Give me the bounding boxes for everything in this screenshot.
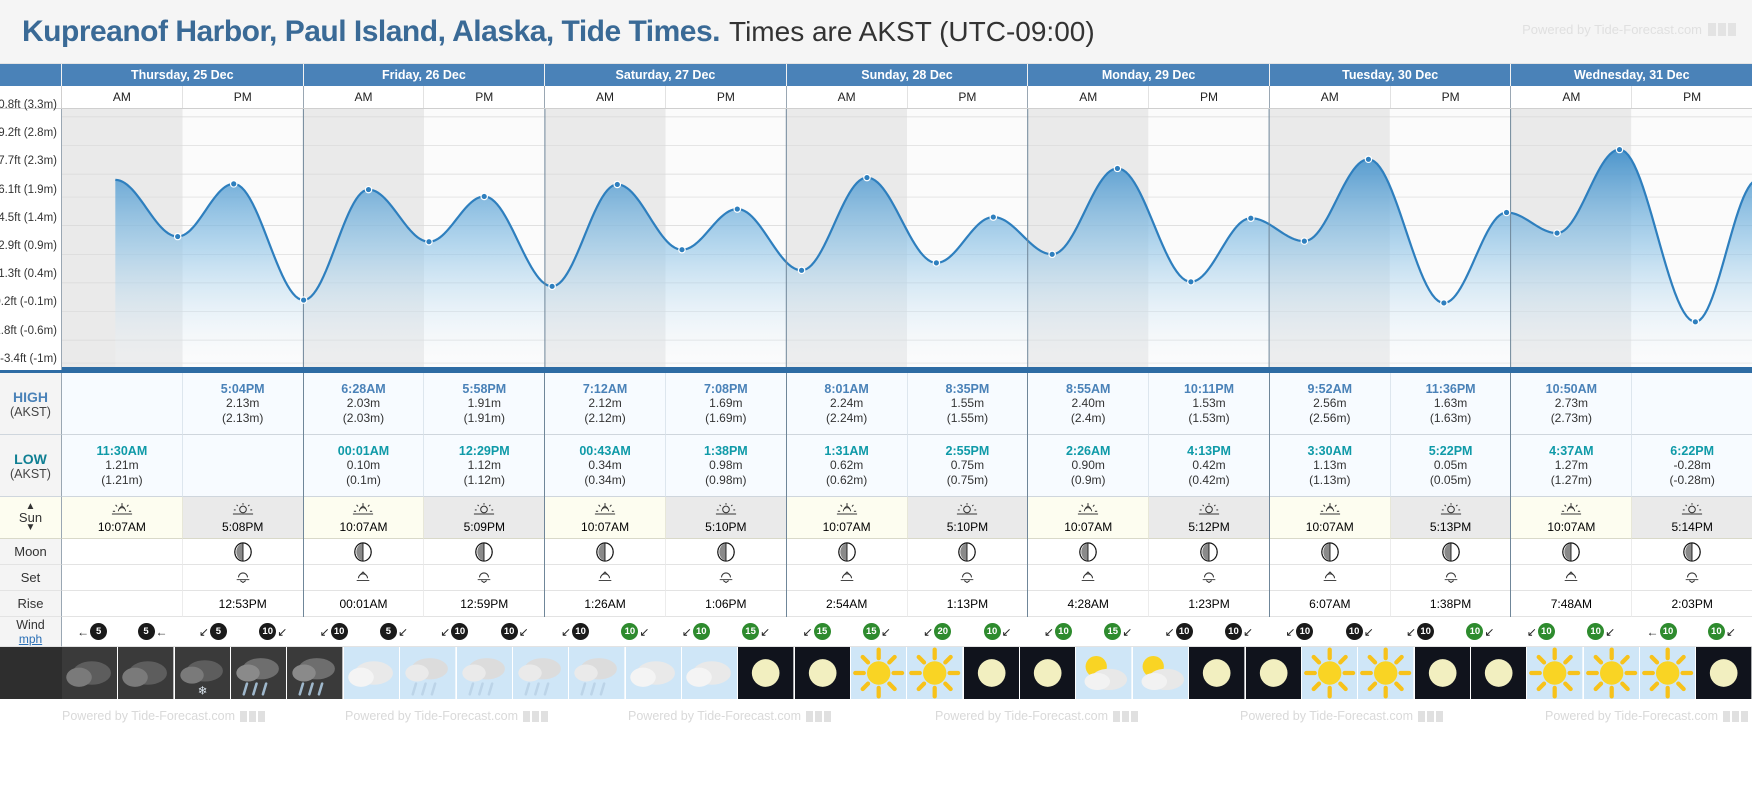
moon-phase-cell-2-pm [666,539,786,565]
weather-row: ❄ [0,647,1752,699]
weather-icon-cell-5[interactable] [344,647,400,699]
low-tide-cell-5-pm[interactable]: 5:22PM0.05m(0.05m) [1391,435,1511,497]
page-title: Kupreanof Harbor, Paul Island, Alaska, T… [22,15,720,49]
low-tide-cell-4-am[interactable]: 2:26AM0.90m(0.9m) [1028,435,1149,497]
moon-time-cell-1-am: 00:01AM [304,591,425,617]
sun-day-3: 10:07AM5:10PM [787,497,1029,539]
wind-cell-1[interactable]: 5← [122,617,182,647]
ampm-pm-2: PM [666,86,786,108]
moon-rise-day-6: 7:48AM2:03PM [1511,591,1752,617]
wind-speed-badge: 10 [1587,623,1604,640]
moon-time-cell-4-am: 4:28AM [1028,591,1149,617]
wind-direction-arrow-icon: ↙ [1364,626,1374,638]
tide-extreme-marker-high-1[interactable] [231,181,237,187]
low-tide-height: 0.42m [1192,458,1225,473]
wind-cell-23[interactable]: 10↙ [1450,617,1510,647]
wind-cell-7[interactable]: 10↙ [485,617,545,647]
moon-rise-day-3: 2:54AM1:13PM [787,591,1029,617]
ampm-am-6: AM [1511,86,1632,108]
y-axis-tick-6: 1.3ft (0.4m) [0,268,57,280]
weather-icon-cell-19[interactable] [1133,647,1189,699]
wind-speed-badge: 5 [138,623,155,640]
wind-direction-arrow-icon: ↙ [1527,626,1537,638]
wind-cell-0[interactable]: ←5 [62,617,122,647]
moon-time: 1:23PM [1188,597,1229,611]
wind-unit-link[interactable]: mph [19,632,42,646]
moon-set-icon-cell-0-am [62,565,183,591]
tide-extreme-marker-high-3[interactable] [365,186,371,192]
moon-time: 1:06PM [705,597,746,611]
low-tide-time: 11:30AM [97,444,148,458]
wind-cells: ←55←↙510↙↙105↙↙1010↙↙1010↙↙1015↙↙1515↙↙2… [62,617,1752,647]
weather-icon-cell-22[interactable] [1302,647,1358,699]
wind-direction-arrow-icon: ← [1647,626,1659,638]
day-header-0[interactable]: Thursday, 25 Dec [62,64,304,86]
watermark-bars-icon [1723,711,1748,722]
weather-icon-cell-1[interactable] [118,647,174,699]
low-tide-time: 1:31AM [824,444,868,458]
sun-rise-cell-0: 10:07AM [62,497,183,539]
moonset-icon [475,570,493,586]
tide-chart-y-axis: 10.8ft (3.3m)9.2ft (2.8m)7.7ft (2.3m)6.1… [0,109,62,370]
sun-set-cell-2: 5:10PM [666,497,786,539]
weather-icon-cell-29[interactable] [1696,647,1751,699]
sun-row: ▲ Sun ▼ 10:07AM5:08PM10:07AM5:09PM10:07A… [0,497,1752,539]
moon-time-cell-4-pm: 1:23PM [1149,591,1269,617]
wind-cell-4[interactable]: ↙10 [303,617,363,647]
weather-icon-cell-8[interactable] [513,647,569,699]
wind-direction-arrow-icon: ↙ [1002,626,1012,638]
low-tide-cell-6-pm[interactable]: 6:22PM-0.28m(-0.28m) [1632,435,1752,497]
high-tide-time: 11:36PM [1426,382,1476,396]
moonset-icon [1200,570,1218,586]
ampm-am-4: AM [1028,86,1149,108]
wind-cell-9[interactable]: 10↙ [605,617,665,647]
weather-icon-cell-16[interactable] [964,647,1020,699]
moon-set-day-0 [62,565,304,591]
tide-extreme-marker-high-11[interactable] [864,174,870,180]
tide-forecast-page: Kupreanof Harbor, Paul Island, Alaska, T… [0,0,1752,787]
moon-time-cell-0-am [62,591,183,617]
moonrise-icon [1321,570,1339,586]
tide-extreme-marker-low-0[interactable] [174,233,180,239]
tide-extreme-marker-low-12[interactable] [933,260,939,266]
tide-extreme-marker-high-17[interactable] [1248,215,1254,221]
moonrise-icon [1562,570,1580,586]
moonrise-icon [596,570,614,586]
high-tide-cell-4-pm[interactable]: 10:11PM1.53m(1.53m) [1149,373,1269,435]
wind-cell-17[interactable]: 15↙ [1088,617,1148,647]
low-tide-cell-5-am[interactable]: 3:30AM1.13m(1.13m) [1270,435,1391,497]
sunrise-icon [1319,502,1341,519]
tide-extreme-marker-high-23[interactable] [1616,146,1622,152]
moon-phase-cell-3-am [787,539,908,565]
moon-rise-day-0: 12:53PM [62,591,304,617]
low-tide-day-2: 00:43AM0.34m(0.34m)1:38PM0.98m(0.98m) [545,435,787,497]
low-tide-height-alt: (0.42m) [1188,473,1229,488]
sun-rise-time: 10:07AM [823,520,871,534]
high-tide-cell-4-am[interactable]: 8:55AM2.40m(2.4m) [1028,373,1149,435]
high-tide-cell-0-am[interactable] [62,373,183,435]
moonrise-icon [1079,570,1097,586]
moon-phase-row: Moon [0,539,1752,565]
tide-extreme-marker-low-6[interactable] [549,283,555,289]
low-tide-height-alt: (-0.28m) [1669,473,1714,488]
high-tide-height: 1.55m [951,396,984,411]
sun-set-time: 5:09PM [464,520,505,534]
moon-phase-cell-0-pm [183,539,303,565]
footer-watermark-text-4: Powered by Tide-Forecast.com [935,709,1108,723]
wind-speed-badge: 10 [984,623,1001,640]
high-tide-height-alt: (1.69m) [705,411,746,426]
high-tide-time: 7:08PM [704,382,748,396]
high-tide-height-alt: (1.53m) [1188,411,1229,426]
wind-direction-arrow-icon: ↙ [1285,626,1295,638]
ampm-day-6: AM PM [1511,86,1752,108]
wind-cell-24[interactable]: ↙10 [1511,617,1571,647]
weather-icon-cell-18[interactable] [1076,647,1132,699]
ampm-day-2: AM PM [545,86,787,108]
wind-speed-badge: 20 [934,623,951,640]
sun-set-time: 5:13PM [1430,520,1471,534]
moon-set-icon-cell-0-pm [183,565,303,591]
wind-cell-14[interactable]: ↙20 [907,617,967,647]
wind-speed-badge: 10 [572,623,589,640]
weather-icon-cell-14[interactable] [851,647,907,699]
high-tide-cell-5-pm[interactable]: 11:36PM1.63m(1.63m) [1391,373,1511,435]
weather-icon-cell-26[interactable] [1527,647,1583,699]
low-tide-height: 0.62m [830,458,863,473]
wind-speed-badge: 10 [1225,623,1242,640]
weather-icon-cell-13[interactable] [795,647,851,699]
tide-extreme-marker-low-22[interactable] [1554,230,1560,236]
moon-time-cell-6-am: 7:48AM [1511,591,1632,617]
wind-speed-badge: 10 [1055,623,1072,640]
moon-phase-cell-2-am [545,539,666,565]
wind-cell-10[interactable]: ↙10 [666,617,726,647]
tide-extreme-marker-high-7[interactable] [614,181,620,187]
sun-rise-cell-6: 10:07AM [1511,497,1632,539]
high-tide-cell-0-pm[interactable]: 5:04PM2.13m(2.13m) [183,373,303,435]
moon-phase-cell-4-pm [1149,539,1269,565]
moon-label: Moon [0,539,62,565]
moon-set-icon-cell-5-am [1270,565,1391,591]
low-tide-label-text: LOW [14,451,47,467]
wind-cell-5[interactable]: 5↙ [364,617,424,647]
wind-cell-18[interactable]: ↙10 [1148,617,1208,647]
high-tide-height-alt: (1.63m) [1430,411,1471,426]
sun-day-4: 10:07AM5:12PM [1028,497,1270,539]
moon-set-day-5 [1270,565,1512,591]
tide-extreme-marker-high-9[interactable] [734,206,740,212]
wind-cell-22[interactable]: ↙10 [1390,617,1450,647]
ampm-am-5: AM [1270,86,1391,108]
footer-watermark-text-1: Powered by Tide-Forecast.com [62,709,235,723]
footer-watermark-text-3: Powered by Tide-Forecast.com [628,709,801,723]
sunrise-icon [352,502,374,519]
sun-set-cell-5: 5:13PM [1391,497,1511,539]
wind-direction-arrow-icon: ↙ [923,626,933,638]
high-tide-height: 1.91m [468,396,501,411]
low-tide-cell-0-am[interactable]: 11:30AM1.21m(1.21m) [62,435,183,497]
low-tide-cell-1-pm[interactable]: 12:29PM1.12m(1.12m) [424,435,544,497]
tide-extreme-marker-high-19[interactable] [1365,156,1371,162]
high-tide-time: 9:52AM [1308,382,1352,396]
moon-set-icon-cell-2-am [545,565,666,591]
day-header-strip: Thursday, 25 Dec Friday, 26 Dec Saturday… [0,64,1752,86]
wind-direction-arrow-icon: ↙ [802,626,812,638]
moon-set-icon-cell-1-pm [424,565,544,591]
tide-extreme-marker-high-5[interactable] [481,193,487,199]
high-tide-height-alt: (2.73m) [1551,411,1592,426]
sun-cells: 10:07AM5:08PM10:07AM5:09PM10:07AM5:10PM1… [62,497,1752,539]
watermark-bars-icon [1418,711,1443,722]
moon-time: 1:13PM [947,597,988,611]
wind-cell-3[interactable]: 10↙ [243,617,303,647]
weather-icon-cell-7[interactable] [457,647,513,699]
wind-direction-arrow-icon: ← [77,626,89,638]
low-tide-cell-0-pm[interactable] [183,435,303,497]
wind-direction-arrow-icon: ↙ [277,626,287,638]
watermark-bars-icon [523,711,548,722]
day-header-6[interactable]: Wednesday, 31 Dec [1511,64,1752,86]
wind-speed-badge: 10 [331,623,348,640]
weather-icon-cell-25[interactable] [1471,647,1527,699]
high-tide-height-alt: (2.56m) [1309,411,1350,426]
moon-phase-cell-5-am [1270,539,1391,565]
high-tide-day-1: 6:28AM2.03m(2.03m)5:58PM1.91m(1.91m) [304,373,546,435]
high-tide-height: 2.40m [1072,396,1105,411]
footer-watermark-3: Powered by Tide-Forecast.com [628,709,831,723]
high-tide-cell-6-am[interactable]: 10:50AM2.73m(2.73m) [1511,373,1632,435]
wind-speed-badge: 10 [1466,623,1483,640]
wind-cell-21[interactable]: 10↙ [1330,617,1390,647]
low-tide-height: 0.75m [951,458,984,473]
high-tide-cell-2-am[interactable]: 7:12AM2.12m(2.12m) [545,373,666,435]
tide-extreme-marker-low-24[interactable] [1692,319,1698,325]
low-tide-time: 00:43AM [579,444,630,458]
moon-set-icon-cell-5-pm [1391,565,1511,591]
low-tide-height-alt: (0.98m) [705,473,746,488]
ampm-header-strip: AM PM AM PM AM PM AM PM AM PM AM PM AM P… [0,86,1752,109]
low-tide-height-alt: (0.9m) [1071,473,1106,488]
low-tide-day-0: 11:30AM1.21m(1.21m) [62,435,304,497]
moon-phase-day-5 [1270,539,1512,565]
low-tide-time: 1:38PM [704,444,748,458]
weather-icon-cell-15[interactable] [907,647,963,699]
wind-cell-2[interactable]: ↙5 [183,617,243,647]
weather-icon-cell-2[interactable]: ❄ [175,647,231,699]
wind-cell-15[interactable]: 10↙ [967,617,1027,647]
high-tide-height: 1.63m [1434,396,1467,411]
day-header-1[interactable]: Friday, 26 Dec [304,64,546,86]
low-tide-cell-3-pm[interactable]: 2:55PM0.75m(0.75m) [908,435,1028,497]
moonset-icon [234,570,252,586]
page-footer: Powered by Tide-Forecast.com Powered by … [0,699,1752,733]
wind-cell-26[interactable]: ←10 [1631,617,1691,647]
tide-extreme-marker-high-21[interactable] [1503,209,1509,215]
sun-down-arrow-icon: ▼ [26,525,36,531]
weather-icon-cell-23[interactable] [1358,647,1414,699]
ampm-pm-1: PM [424,86,544,108]
wind-speed-badge: 10 [1708,623,1725,640]
low-tide-time: 2:55PM [946,444,990,458]
wind-direction-arrow-icon: ↙ [1484,626,1494,638]
low-tide-day-3: 1:31AM0.62m(0.62m)2:55PM0.75m(0.75m) [787,435,1029,497]
tide-extreme-marker-low-14[interactable] [1049,251,1055,257]
wind-speed-badge: 10 [1296,623,1313,640]
moon-set-day-1 [304,565,546,591]
high-tide-cell-3-pm[interactable]: 8:35PM1.55m(1.55m) [908,373,1028,435]
high-tide-height: 1.69m [709,396,742,411]
sun-day-1: 10:07AM5:09PM [304,497,546,539]
high-tide-cell-3-am[interactable]: 8:01AM2.24m(2.24m) [787,373,908,435]
high-tide-height: 2.12m [588,396,621,411]
moon-phase-day-3 [787,539,1029,565]
wind-cell-16[interactable]: ↙10 [1028,617,1088,647]
low-tide-cell-1-am[interactable]: 00:01AM0.10m(0.1m) [304,435,425,497]
low-tide-height: 1.21m [105,458,138,473]
wind-cell-13[interactable]: 15↙ [847,617,907,647]
moon-set-icon-cell-1-am [304,565,425,591]
tide-extreme-marker-low-16[interactable] [1188,279,1194,285]
wind-cell-6[interactable]: ↙10 [424,617,484,647]
moon-rise-cells: 12:53PM00:01AM12:59PM1:26AM1:06PM2:54AM1… [62,591,1752,617]
moon-time-cell-2-pm: 1:06PM [666,591,786,617]
high-tide-label-text: HIGH [13,389,48,405]
wind-cell-25[interactable]: 10↙ [1571,617,1631,647]
sun-set-cell-4: 5:12PM [1149,497,1269,539]
wind-speed-badge: 15 [742,623,759,640]
sun-rise-time: 10:07AM [339,520,387,534]
weather-icon-cell-6[interactable] [400,647,456,699]
moonset-icon [958,570,976,586]
low-tide-height-alt: (1.21m) [101,473,142,488]
wind-cell-19[interactable]: 10↙ [1209,617,1269,647]
high-tide-cell-5-am[interactable]: 9:52AM2.56m(2.56m) [1270,373,1391,435]
weather-icon-cell-3[interactable] [231,647,287,699]
wind-direction-arrow-icon: ↙ [1122,626,1132,638]
high-tide-height-alt: (1.91m) [464,411,505,426]
weather-icon-cell-20[interactable] [1189,647,1245,699]
wind-speed-badge: 10 [1538,623,1555,640]
moon-time-cell-5-pm: 1:38PM [1391,591,1511,617]
tide-extreme-marker-high-15[interactable] [1114,165,1120,171]
wind-cell-20[interactable]: ↙10 [1269,617,1329,647]
low-tide-height: 1.12m [468,458,501,473]
tide-extreme-marker-low-18[interactable] [1301,238,1307,244]
high-tide-cell-2-pm[interactable]: 7:08PM1.69m(1.69m) [666,373,786,435]
sunrise-icon [836,502,858,519]
wind-speed-badge: 5 [210,623,227,640]
tide-chart-plot[interactable] [62,109,1752,370]
watermark-bars-icon [1708,23,1736,36]
high-tide-cell-1-am[interactable]: 6:28AM2.03m(2.03m) [304,373,425,435]
weather-icon-cell-27[interactable] [1584,647,1640,699]
weather-icon-cell-21[interactable] [1246,647,1302,699]
weather-icon-cell-17[interactable] [1020,647,1076,699]
day-header-5[interactable]: Tuesday, 30 Dec [1270,64,1512,86]
sun-set-cell-1: 5:09PM [424,497,544,539]
tide-extreme-marker-low-20[interactable] [1441,300,1447,306]
tide-extreme-marker-high-13[interactable] [990,214,996,220]
day-header-4[interactable]: Monday, 29 Dec [1028,64,1270,86]
tide-extreme-marker-low-10[interactable] [798,267,804,273]
sun-day-6: 10:07AM5:14PM [1511,497,1752,539]
sun-label: ▲ Sun ▼ [0,497,62,539]
wind-speed-badge: 10 [1417,623,1434,640]
moon-time: 1:38PM [1430,597,1471,611]
sunset-icon [956,502,978,519]
y-axis-tick-3: 6.1ft (1.9m) [0,184,57,196]
wind-direction-arrow-icon: ↙ [881,626,891,638]
high-tide-cell-1-pm[interactable]: 5:58PM1.91m(1.91m) [424,373,544,435]
high-tide-time: 7:12AM [583,382,627,396]
sun-set-cell-6: 5:14PM [1632,497,1752,539]
weather-icon-cell-28[interactable] [1640,647,1696,699]
low-tide-cell-6-am[interactable]: 4:37AM1.27m(1.27m) [1511,435,1632,497]
low-tide-height: 1.13m [1313,458,1346,473]
footer-watermark-5: Powered by Tide-Forecast.com [1240,709,1443,723]
wind-cell-12[interactable]: ↙15 [786,617,846,647]
moon-time-cell-3-am: 2:54AM [787,591,908,617]
footer-watermark-4: Powered by Tide-Forecast.com [935,709,1138,723]
low-tide-cell-4-pm[interactable]: 4:13PM0.42m(0.42m) [1149,435,1269,497]
high-tide-height: 2.24m [830,396,863,411]
wind-row: Wind mph ←55←↙510↙↙105↙↙1010↙↙1010↙↙1015… [0,617,1752,647]
y-axis-tick-2: 7.7ft (2.3m) [0,155,57,167]
tide-extreme-marker-low-2[interactable] [300,297,306,303]
low-tide-day-6: 4:37AM1.27m(1.27m)6:22PM-0.28m(-0.28m) [1511,435,1752,497]
weather-icon-cell-0[interactable] [62,647,118,699]
ampm-pm-6: PM [1632,86,1752,108]
moon-phase-cell-3-pm [908,539,1028,565]
wind-cell-8[interactable]: ↙10 [545,617,605,647]
ampm-pm-3: PM [908,86,1028,108]
weather-icon-cell-4[interactable] [287,647,343,699]
day-header-3[interactable]: Sunday, 28 Dec [787,64,1029,86]
weather-icon-cell-10[interactable] [626,647,682,699]
day-header-2[interactable]: Saturday, 27 Dec [545,64,787,86]
ampm-day-3: AM PM [787,86,1029,108]
moon-time: 2:03PM [1671,597,1712,611]
moon-phase-day-2 [545,539,787,565]
weather-icon-cell-11[interactable] [682,647,738,699]
moon-phase-cell-1-am [304,539,425,565]
low-tide-cell-3-am[interactable]: 1:31AM0.62m(0.62m) [787,435,908,497]
weather-icon-cell-12[interactable] [738,647,794,699]
ampm-am-1: AM [304,86,425,108]
sun-set-time: 5:10PM [947,520,988,534]
low-tide-cell-2-am[interactable]: 00:43AM0.34m(0.34m) [545,435,666,497]
tide-extreme-marker-low-4[interactable] [426,239,432,245]
ampm-day-0: AM PM [62,86,304,108]
high-tide-label: HIGH (AKST) [0,373,62,435]
wind-cell-11[interactable]: 15↙ [726,617,786,647]
moon-rise-day-5: 6:07AM1:38PM [1270,591,1512,617]
tide-extreme-marker-low-8[interactable] [679,247,685,253]
wind-direction-arrow-icon: ↙ [519,626,529,638]
tide-chart: 10.8ft (3.3m)9.2ft (2.8m)7.7ft (2.3m)6.1… [0,109,1752,370]
weather-icon-cell-9[interactable] [569,647,625,699]
high-tide-cell-6-pm[interactable] [1632,373,1752,435]
moon-phase-day-1 [304,539,546,565]
sun-day-2: 10:07AM5:10PM [545,497,787,539]
weather-icon-cell-24[interactable] [1415,647,1471,699]
wind-cell-27[interactable]: 10↙ [1692,617,1752,647]
sun-set-time: 5:12PM [1188,520,1229,534]
low-tide-cell-2-pm[interactable]: 1:38PM0.98m(0.98m) [666,435,786,497]
